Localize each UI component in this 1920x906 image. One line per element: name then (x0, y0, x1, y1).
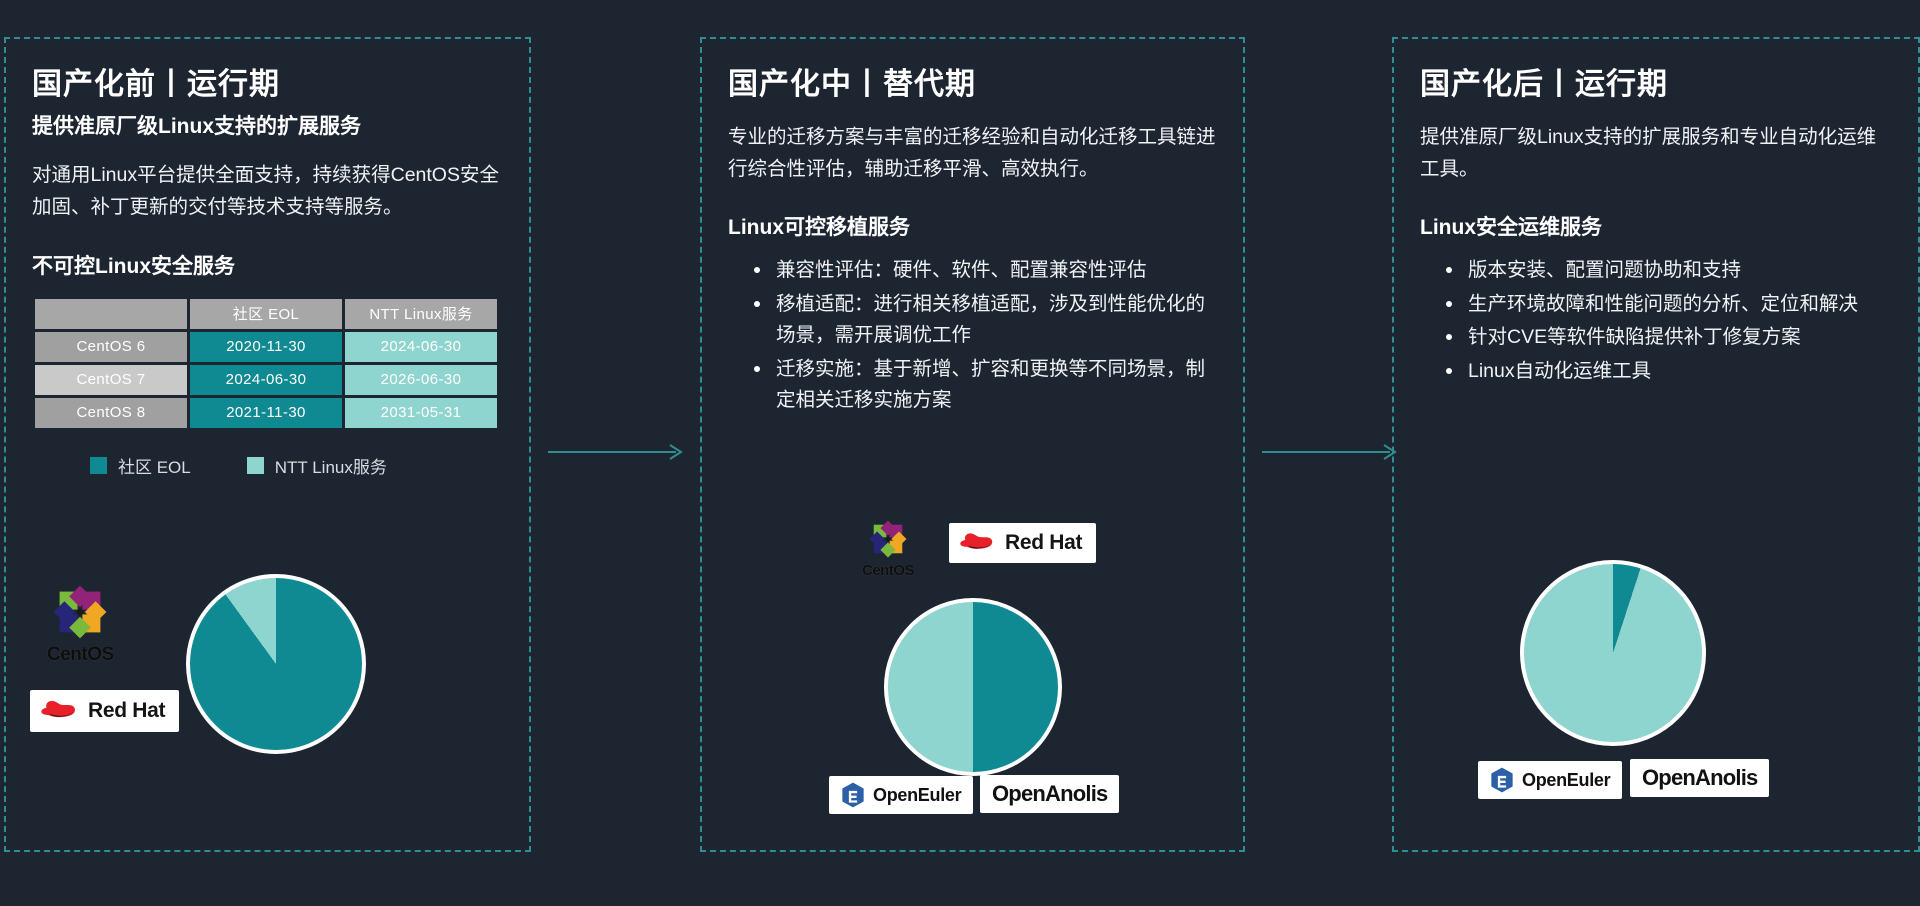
openeuler-mark-icon (841, 782, 865, 808)
panel-2-description: 专业的迁移方案与丰富的迁移经验和自动化迁移工具链进行综合性评估，辅助迁移平滑、高… (728, 122, 1217, 185)
table-header-row: 社区 EOL NTT Linux服务 (35, 299, 497, 329)
table-header-ntt: NTT Linux服务 (345, 299, 497, 329)
openeuler-logo: OpenEuler (829, 776, 973, 814)
list-item: 针对CVE等软件缺陷提供补丁修复方案 (1446, 322, 1892, 354)
legend-label: 社区 EOL (118, 453, 191, 478)
list-item: Linux自动化运维工具 (1446, 356, 1892, 388)
cell-os: CentOS 6 (35, 332, 187, 362)
cell-eol: 2020-11-30 (190, 332, 342, 362)
eol-table: 社区 EOL NTT Linux服务 CentOS 6 2020-11-30 2… (32, 296, 500, 431)
legend-item-eol: 社区 EOL (90, 453, 191, 478)
openanolis-logo: OpenAnolis (980, 775, 1119, 813)
list-item: 版本安装、配置问题协助和支持 (1446, 255, 1892, 287)
arrow-right-icon-1 (548, 440, 686, 464)
panel-1-subtitle: 提供准原厂级Linux支持的扩展服务 (32, 112, 503, 142)
panel-3-bullet-list: 版本安装、配置问题协助和支持 生产环境故障和性能问题的分析、定位和解决 针对CV… (1420, 255, 1892, 387)
centos-mark-icon (867, 518, 909, 560)
legend-swatch-icon (247, 457, 264, 474)
openeuler-logo: OpenEuler (1478, 761, 1622, 799)
legend-swatch-icon (90, 457, 107, 474)
panel-1-description: 对通用Linux平台提供全面支持，持续获得CentOS安全加固、补丁更新的交付等… (32, 160, 503, 223)
centos-logo-label: CentOS (47, 644, 114, 666)
panel-3-description: 提供准原厂级Linux支持的扩展服务和专业自动化运维工具。 (1420, 122, 1892, 185)
pie-chart-before (186, 574, 366, 754)
table-row: CentOS 7 2024-06-30 2026-06-30 (35, 365, 497, 395)
panel-2-bullet-list: 兼容性评估：硬件、软件、配置兼容性评估 移植适配：进行相关移植适配，涉及到性能优… (728, 255, 1217, 417)
list-item: 移植适配：进行相关移植适配，涉及到性能优化的场景，需开展调优工作 (754, 289, 1217, 352)
redhat-logo: Red Hat (30, 690, 179, 732)
redhat-fedora-icon (959, 530, 997, 556)
panel-2-section-head: Linux可控移植服务 (728, 211, 1217, 241)
cell-os: CentOS 8 (35, 398, 187, 428)
pie-chart-during (884, 598, 1062, 776)
centos-logo: CentOS (862, 518, 914, 579)
panel-3-title: 国产化后丨运行期 (1420, 65, 1892, 104)
redhat-fedora-icon (40, 697, 80, 725)
centos-logo: CentOS (47, 582, 114, 666)
openeuler-mark-icon (1490, 767, 1514, 793)
cell-ntt: 2026-06-30 (345, 365, 497, 395)
table-header-eol: 社区 EOL (190, 299, 342, 329)
centos-mark-icon (50, 582, 110, 642)
chart-legend: 社区 EOL NTT Linux服务 (32, 453, 503, 478)
cell-ntt: 2031-05-31 (345, 398, 497, 428)
cell-eol: 2024-06-30 (190, 365, 342, 395)
openanolis-logo-label: OpenAnolis (1642, 765, 1757, 791)
openanolis-logo: OpenAnolis (1630, 759, 1769, 797)
centos-logo-label: CentOS (862, 562, 914, 579)
cell-eol: 2021-11-30 (190, 398, 342, 428)
list-item: 迁移实施：基于新增、扩容和更换等不同场景，制定相关迁移实施方案 (754, 354, 1217, 417)
list-item: 兼容性评估：硬件、软件、配置兼容性评估 (754, 255, 1217, 287)
panel-2-title: 国产化中丨替代期 (728, 65, 1217, 104)
redhat-logo: Red Hat (949, 523, 1096, 563)
redhat-logo-label: Red Hat (88, 699, 165, 723)
slide-canvas: 国产化前丨运行期 提供准原厂级Linux支持的扩展服务 对通用Linux平台提供… (0, 0, 1920, 906)
list-item: 生产环境故障和性能问题的分析、定位和解决 (1446, 289, 1892, 321)
openeuler-logo-label: OpenEuler (1522, 770, 1610, 791)
panel-1-section-head: 不可控Linux安全服务 (32, 250, 503, 280)
table-row: CentOS 8 2021-11-30 2031-05-31 (35, 398, 497, 428)
redhat-logo-label: Red Hat (1005, 531, 1082, 555)
legend-item-ntt: NTT Linux服务 (247, 453, 387, 478)
arrow-right-icon-2 (1262, 440, 1400, 464)
panel-1-title: 国产化前丨运行期 (32, 65, 503, 104)
table-row: CentOS 6 2020-11-30 2024-06-30 (35, 332, 497, 362)
cell-os: CentOS 7 (35, 365, 187, 395)
openanolis-logo-label: OpenAnolis (992, 781, 1107, 807)
pie-chart-after (1520, 560, 1706, 746)
openeuler-logo-label: OpenEuler (873, 785, 961, 806)
legend-label: NTT Linux服务 (275, 453, 387, 478)
panel-3-section-head: Linux安全运维服务 (1420, 211, 1892, 241)
table-header-blank (35, 299, 187, 329)
cell-ntt: 2024-06-30 (345, 332, 497, 362)
